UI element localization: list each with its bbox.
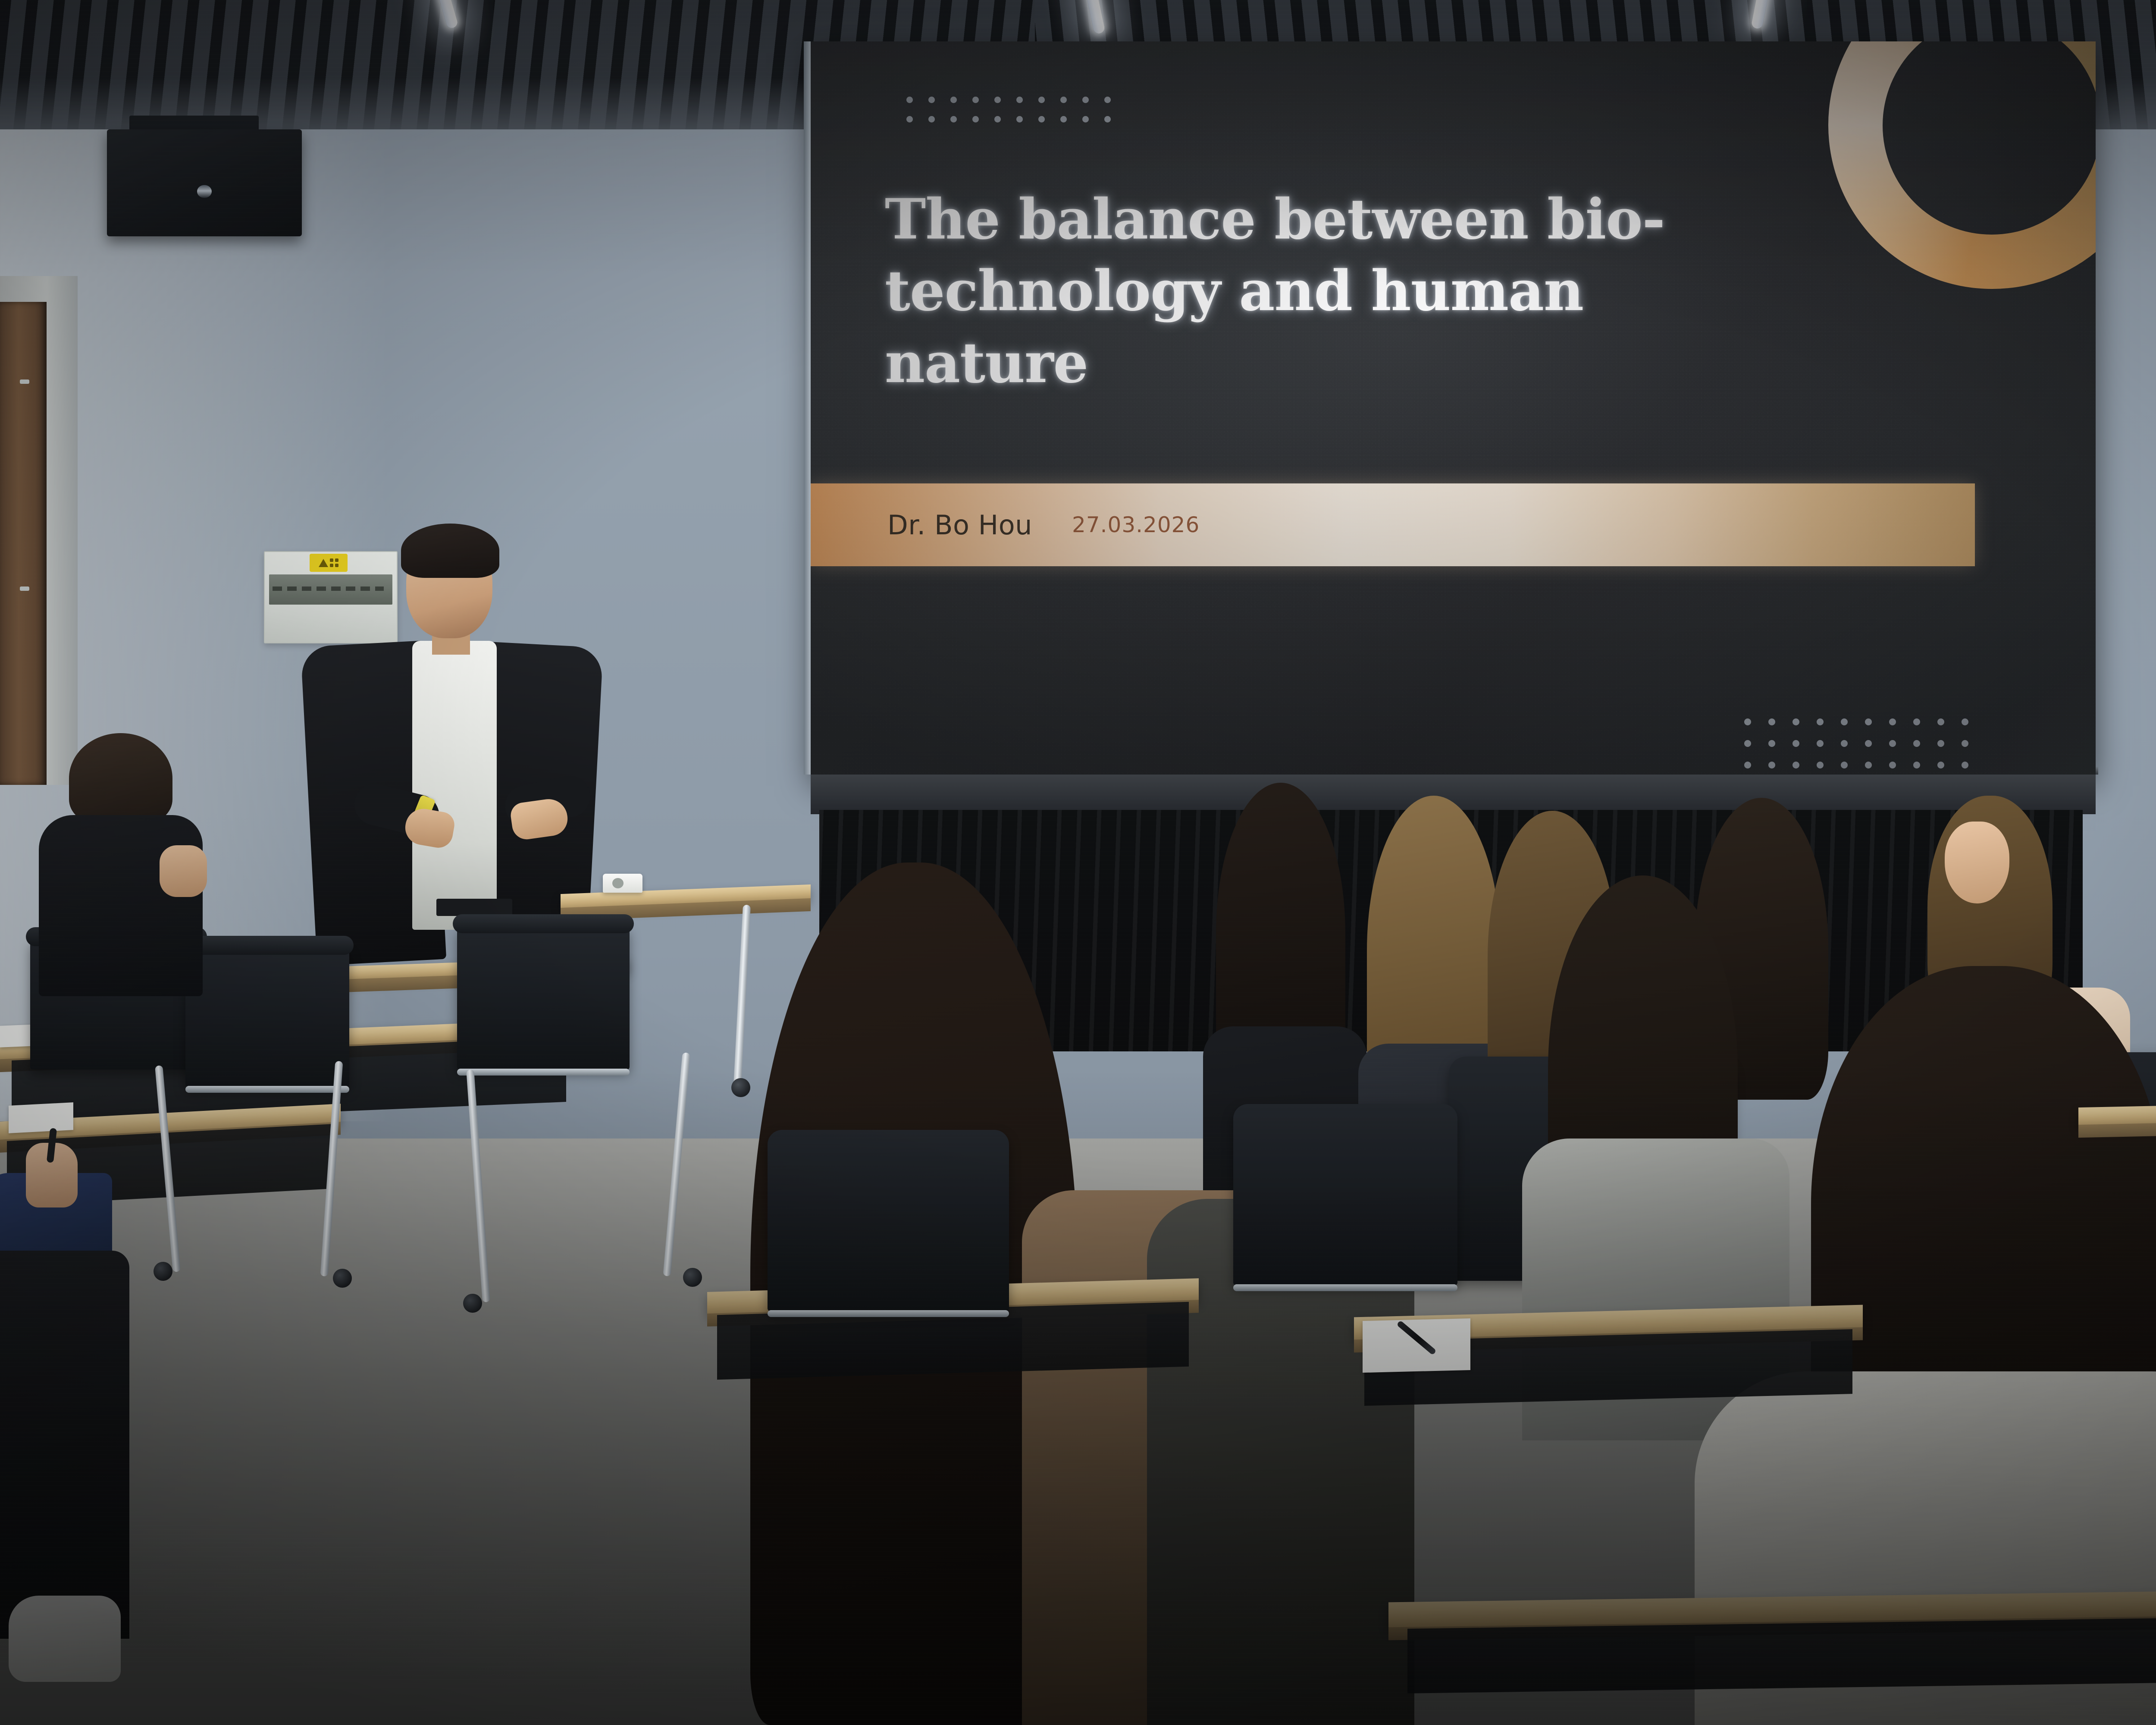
chair-caster [333, 1269, 352, 1288]
chair-caster [683, 1268, 702, 1287]
audience-shoe [9, 1596, 121, 1682]
door-hinge-icon [20, 586, 29, 591]
audience-body [39, 815, 203, 996]
chair-frame [768, 1310, 1009, 1317]
breaker-row [269, 574, 392, 605]
desk-edge [2078, 1118, 2156, 1138]
chair-frame [457, 1069, 630, 1076]
chair-caster [463, 1294, 482, 1313]
warning-triangle-icon [319, 559, 328, 567]
chair[interactable] [768, 1130, 1009, 1311]
audience-face [1945, 822, 2009, 903]
paper-sheet [1363, 1318, 1470, 1373]
entrance-door[interactable] [0, 302, 47, 785]
presenter-shirt [412, 641, 497, 930]
chair[interactable] [185, 949, 349, 1087]
audience-face [160, 845, 207, 897]
slide-vignette [811, 41, 2096, 775]
audience-hair [69, 733, 172, 824]
chair-frame [185, 1086, 349, 1093]
chair-caster [154, 1262, 172, 1281]
chair[interactable] [1233, 1104, 1457, 1285]
screen-bezel [804, 41, 811, 775]
chair-frame [1233, 1284, 1457, 1291]
projection-screen: The balance between bio- technology and … [811, 41, 2096, 775]
warning-text-icon [330, 558, 338, 567]
door-hinge-icon [20, 379, 29, 384]
desk-device[interactable] [603, 874, 642, 893]
presenter-hair [401, 524, 499, 578]
chair-headrest [181, 936, 354, 955]
electrical-panel [264, 551, 398, 643]
chair-headrest [453, 914, 634, 933]
wall-speaker [107, 129, 302, 236]
paper-sheet [9, 1102, 73, 1133]
desk-apron [1407, 1616, 2156, 1693]
presenter-belt [436, 899, 512, 916]
lecture-hall-photo: The balance between bio- technology and … [0, 0, 2156, 1725]
desk-caster [731, 1078, 750, 1097]
chair[interactable] [457, 927, 630, 1069]
presentation-slide: The balance between bio- technology and … [811, 41, 2096, 775]
audience-body [0, 1251, 129, 1639]
warning-sticker-icon [310, 554, 348, 572]
